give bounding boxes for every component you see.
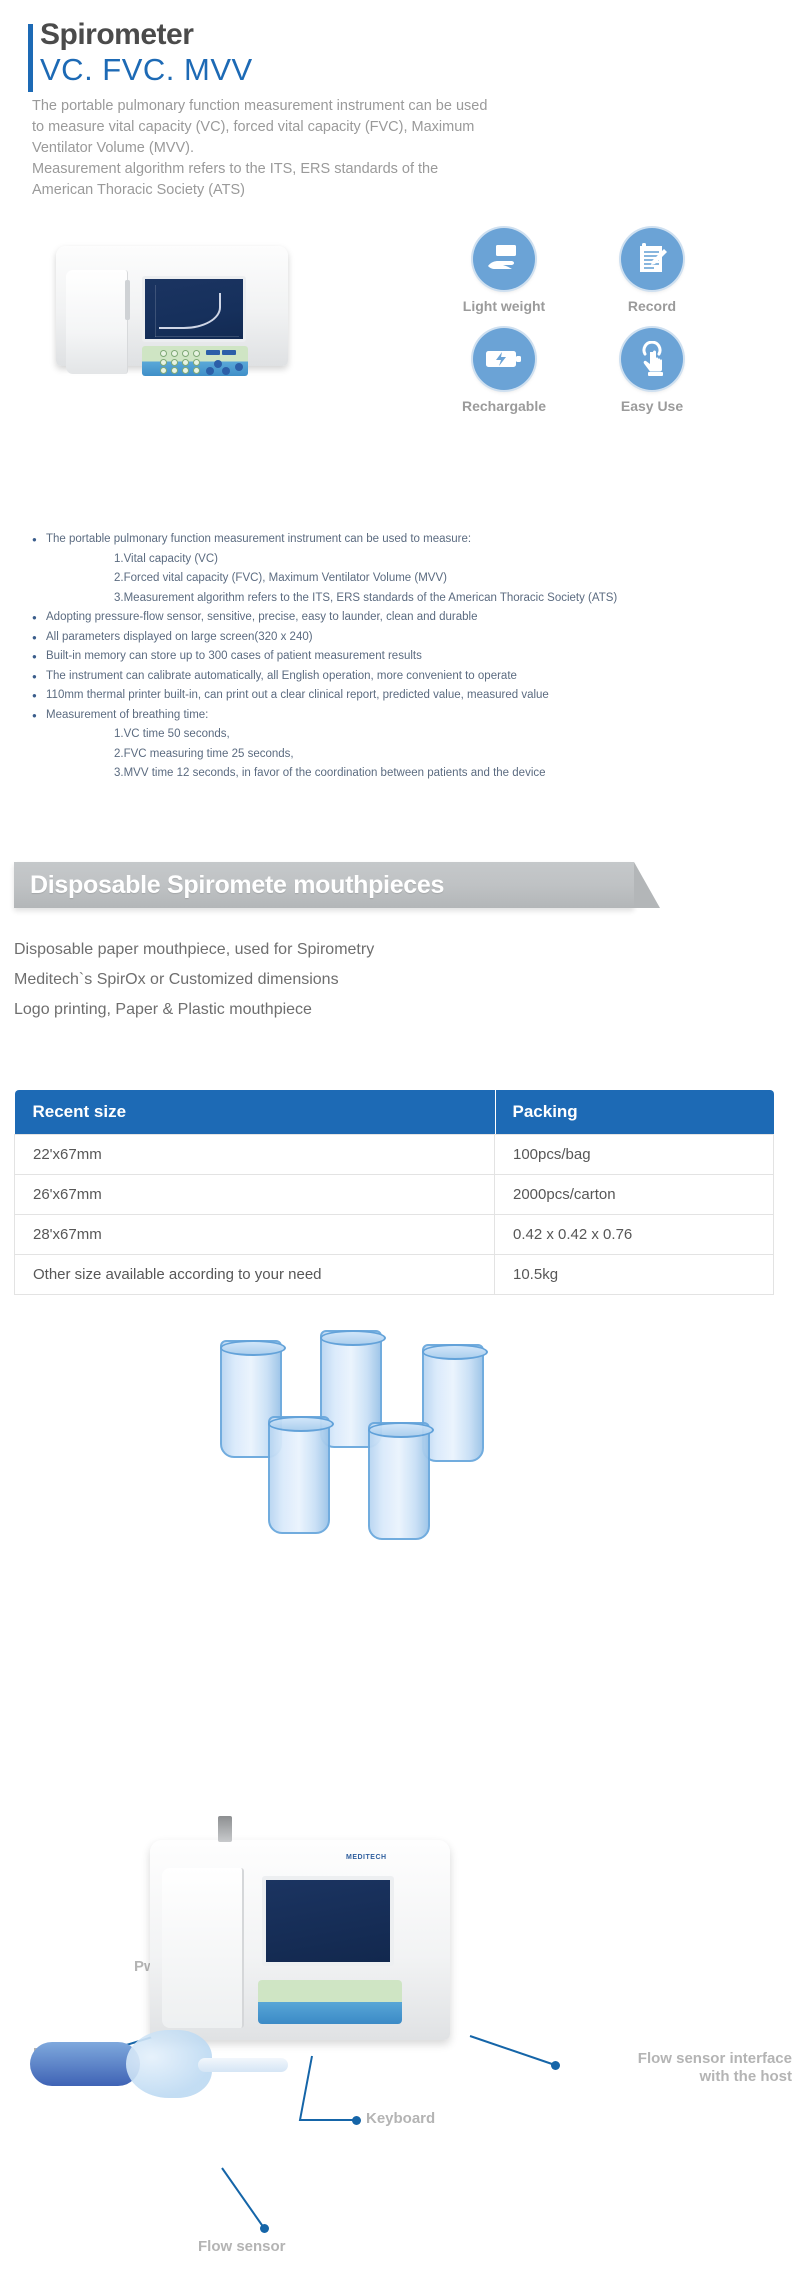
cell-packing: 2000pcs/carton — [495, 1175, 774, 1215]
cell-packing: 10.5kg — [495, 1255, 774, 1295]
description-line: Meditech`s SpirOx or Customized dimensio… — [14, 965, 634, 995]
callout-label-flow-sensor: Flow sensor — [198, 2238, 286, 2256]
feature-label: Light weight — [430, 298, 578, 314]
diagram-device-body: MEDITECH — [150, 1840, 450, 2040]
feature-record: Record — [578, 228, 726, 314]
spec-items: The portable pulmonary function measurem… — [32, 530, 772, 784]
feature-label: Easy Use — [578, 398, 726, 414]
spec-item: Built-in memory can store up to 300 case… — [32, 647, 772, 667]
hero-product-image — [48, 228, 298, 388]
flow-volume-curve — [159, 293, 221, 329]
cell-size: 28'x67mm — [15, 1215, 495, 1255]
table-header-row: Recent size Packing — [15, 1090, 774, 1135]
table-head: Recent size Packing — [15, 1090, 774, 1135]
mouthpiece-tube — [368, 1422, 430, 1540]
mouthpiece-tube — [422, 1344, 484, 1462]
battery-charging-icon — [473, 328, 535, 390]
diagram-device-keypad — [258, 1980, 402, 2024]
page-subtitle: VC. FVC. MVV — [40, 52, 800, 88]
mouthpiece-product-image — [190, 1330, 610, 1580]
cell-packing: 100pcs/bag — [495, 1135, 774, 1175]
description-line: Disposable paper mouthpiece, used for Sp… — [14, 935, 634, 965]
device-keypad — [142, 346, 248, 376]
spec-item: Measurement of breathing time: — [32, 706, 772, 726]
spec-subitem: 2.Forced vital capacity (FVC), Maximum V… — [32, 569, 772, 589]
feature-easy-use: Easy Use — [578, 328, 726, 414]
column-header-packing: Packing — [495, 1090, 774, 1135]
device-brand-logo: MEDITECH — [346, 1854, 387, 1861]
packing-table: Recent size Packing 22'x67mm 100pcs/bag … — [14, 1090, 774, 1295]
callout-dot — [260, 2224, 269, 2233]
packing-table-wrapper: Recent size Packing 22'x67mm 100pcs/bag … — [14, 1090, 774, 1295]
diagram-printer-door — [162, 1868, 244, 2028]
spec-subitem: 2.FVC measuring time 25 seconds, — [32, 745, 772, 765]
title-accent-bar — [28, 24, 33, 92]
specification-list: The portable pulmonary function measurem… — [32, 530, 772, 784]
column-header-recent-size: Recent size — [15, 1090, 495, 1135]
intro-paragraph: The portable pulmonary function measurem… — [32, 96, 492, 201]
table-row: 26'x67mm 2000pcs/carton — [15, 1175, 774, 1215]
callout-label-keyboard: Keyboard — [366, 2110, 435, 2128]
cell-size: 22'x67mm — [15, 1135, 495, 1175]
spec-item: The instrument can calibrate automatical… — [32, 667, 772, 687]
callout-dot — [352, 2116, 361, 2125]
spec-subitem: 3.Measurement algorithm refers to the IT… — [32, 589, 772, 609]
printer-door — [66, 270, 128, 374]
feature-rechargable: Rechargable — [430, 328, 578, 414]
cell-packing: 0.42 x 0.42 x 0.76 — [495, 1215, 774, 1255]
hand-tap-icon — [621, 328, 683, 390]
notepad-pencil-icon — [621, 228, 683, 290]
title-block: Spirometer VC. FVC. MVV — [0, 18, 800, 88]
device-screen — [142, 276, 246, 342]
hand-holding-device-icon — [473, 228, 535, 290]
spec-subitem: 1.Vital capacity (VC) — [32, 550, 772, 570]
table-row: 28'x67mm 0.42 x 0.42 x 0.76 — [15, 1215, 774, 1255]
table-row: 22'x67mm 100pcs/bag — [15, 1135, 774, 1175]
feature-icon-grid: Light weight Record — [430, 228, 750, 428]
spec-item: 110mm thermal printer built-in, can prin… — [32, 686, 772, 706]
feature-light-weight: Light weight — [430, 228, 578, 314]
power-connector-port — [218, 1816, 232, 1842]
page-title: Spirometer — [40, 18, 800, 52]
flow-sensor-assembly — [30, 2020, 240, 2115]
callout-dot — [551, 2061, 560, 2070]
callout-label-flow-sensor-interface: Flow sensor interface with the host — [560, 2050, 792, 2086]
mouthpiece-description: Disposable paper mouthpiece, used for Sp… — [14, 935, 634, 1025]
sensor-stem — [198, 2058, 288, 2072]
feature-label: Record — [578, 298, 726, 314]
section-header-ribbon: Disposable Spiromete mouthpieces — [14, 862, 674, 914]
product-banner: Spirometer VC. FVC. MVV The portable pul… — [0, 0, 800, 230]
description-line: Logo printing, Paper & Plastic mouthpiec… — [14, 995, 634, 1025]
spec-subitem: 3.MVV time 12 seconds, in favor of the c… — [32, 764, 772, 784]
spec-item: Adopting pressure-flow sensor, sensitive… — [32, 608, 772, 628]
spec-item: All parameters displayed on large screen… — [32, 628, 772, 648]
cell-size: 26'x67mm — [15, 1175, 495, 1215]
feature-label: Rechargable — [430, 398, 578, 414]
spec-item: The portable pulmonary function measurem… — [32, 530, 772, 550]
annotated-device-diagram: Pwer connector Printer Flow sensor inter… — [0, 1720, 800, 2276]
ribbon-shape: Disposable Spiromete mouthpieces — [14, 862, 634, 908]
sensor-barrel — [30, 2042, 140, 2086]
spec-subitem: 1.VC time 50 seconds, — [32, 725, 772, 745]
cell-size: Other size available according to your n… — [15, 1255, 495, 1295]
table-row: Other size available according to your n… — [15, 1255, 774, 1295]
spirometer-body — [56, 246, 288, 366]
diagram-device-screen — [262, 1876, 394, 1966]
section-title: Disposable Spiromete mouthpieces — [14, 871, 444, 900]
mouthpiece-tube — [268, 1416, 330, 1534]
table-body: 22'x67mm 100pcs/bag 26'x67mm 2000pcs/car… — [15, 1135, 774, 1295]
